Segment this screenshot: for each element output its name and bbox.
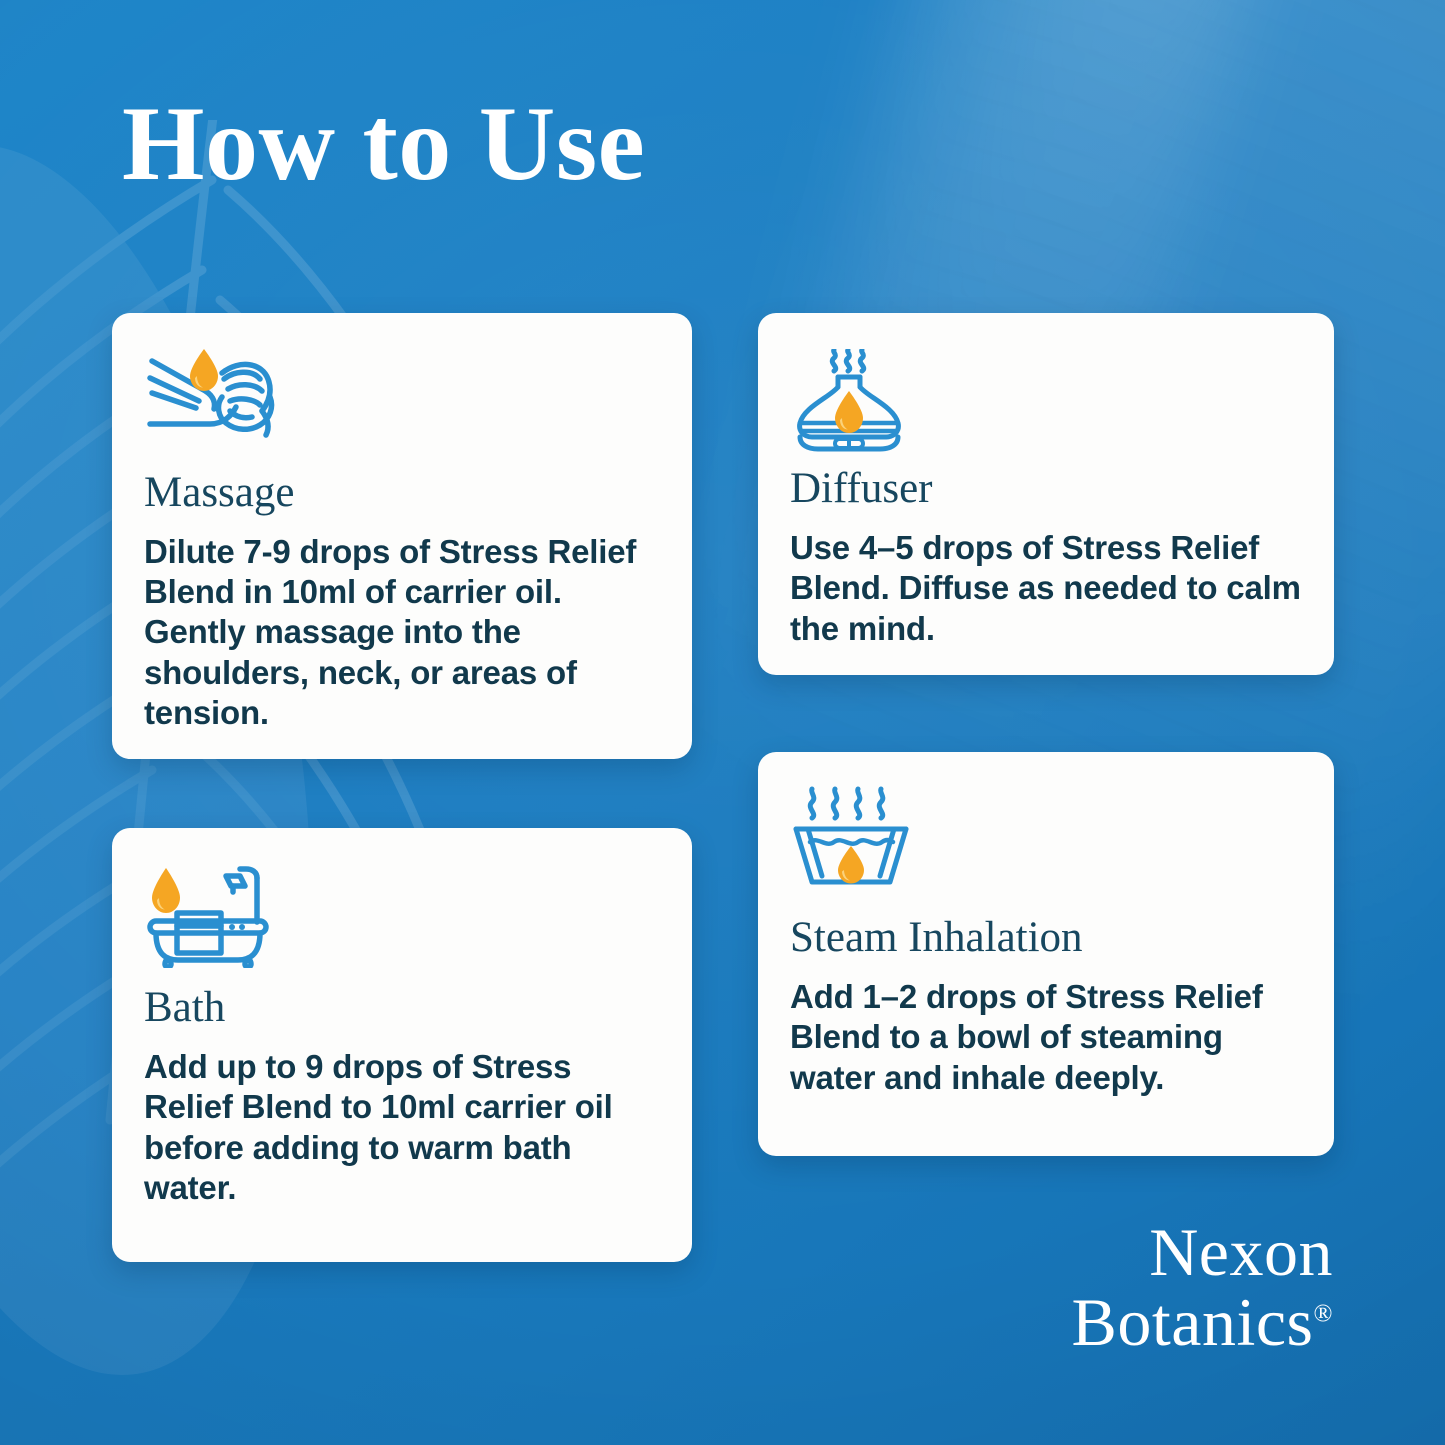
oil-drop-icon xyxy=(838,846,864,884)
card-body: Use 4–5 drops of Stress Relief Blend. Di… xyxy=(790,528,1302,649)
usage-card-bath: Bath Add up to 9 drops of Stress Relief … xyxy=(112,828,692,1262)
card-body: Dilute 7-9 drops of Stress Relief Blend … xyxy=(144,532,660,733)
card-title: Massage xyxy=(144,471,660,514)
usage-card-diffuser: Diffuser Use 4–5 drops of Stress Relief … xyxy=(758,313,1334,675)
brand-logo-word: Botanics xyxy=(1072,1284,1314,1360)
diffuser-icon xyxy=(790,343,1302,453)
registered-trademark-icon: ® xyxy=(1314,1300,1334,1327)
oil-drop-icon xyxy=(190,349,218,391)
brand-logo-line2: Botanics® xyxy=(1072,1288,1333,1357)
card-title: Steam Inhalation xyxy=(790,916,1302,959)
oil-drop-icon xyxy=(835,391,863,433)
card-title: Diffuser xyxy=(790,467,1302,510)
bathtub-icon xyxy=(144,858,660,968)
card-title: Bath xyxy=(144,986,660,1029)
brand-logo: Nexon Botanics® xyxy=(1072,1218,1333,1357)
usage-card-steam-inhalation: Steam Inhalation Add 1–2 drops of Stress… xyxy=(758,752,1334,1156)
card-body: Add up to 9 drops of Stress Relief Blend… xyxy=(144,1047,660,1208)
card-body: Add 1–2 drops of Stress Relief Blend to … xyxy=(790,977,1302,1098)
massage-hands-head-icon xyxy=(144,343,660,449)
brand-logo-line1: Nexon xyxy=(1072,1218,1333,1287)
page-title: How to Use xyxy=(122,88,645,199)
usage-card-massage: Massage Dilute 7-9 drops of Stress Relie… xyxy=(112,313,692,759)
steam-bowl-icon xyxy=(790,782,1302,886)
oil-drop-icon xyxy=(152,868,180,913)
